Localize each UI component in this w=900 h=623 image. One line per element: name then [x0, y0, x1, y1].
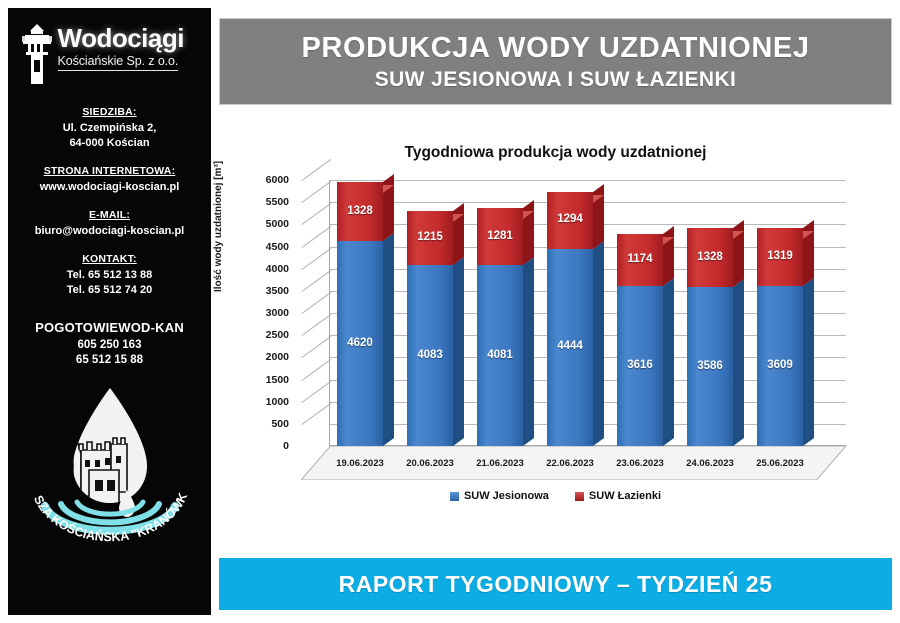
bar-segment-jesionowa[interactable]: 4081 [477, 265, 523, 446]
brand-logo: Wodociągi Kościańskie Sp. z o.o. [12, 22, 208, 86]
info-heading: SIEDZIBA: [63, 106, 157, 118]
bar-column[interactable]: 46201328 [337, 182, 383, 446]
bar-column[interactable]: 36161174 [617, 234, 663, 446]
chart-3d-box: 4620132840831215408112814444129436161174… [301, 180, 846, 480]
chart-legend: SUW Jesionowa SUW Łazienki [219, 490, 892, 502]
info-heading: E-MAIL: [35, 209, 184, 221]
page-subtitle: SUW JESIONOWA I SUW ŁAZIENKI [375, 67, 737, 92]
depth-gridline [301, 226, 331, 248]
emergency-heading: POGOTOWIEWOD-KAN [35, 320, 184, 335]
y-axis-tick-label: 1000 [243, 396, 289, 408]
bar-segment-lazienki[interactable]: 1294 [547, 192, 593, 249]
bar-side-face [453, 203, 464, 265]
info-line: Tel. 65 512 13 88 [67, 268, 152, 283]
brand-name: Wodociągi [58, 24, 208, 52]
footer-banner: RAPORT TYGODNIOWY – TYDZIEŃ 25 [219, 558, 892, 610]
info-group-website: STRONA INTERNETOWA: www.wodociagi-koscia… [40, 165, 180, 195]
bar-segment-jesionowa[interactable]: 3616 [617, 286, 663, 446]
email-link[interactable]: biuro@wodociagi-koscian.pl [35, 224, 184, 239]
header-banner: PRODUKCJA WODY UZDATNIONEJ SUW JESIONOWA… [219, 18, 892, 105]
bar-column[interactable]: 36091319 [757, 228, 803, 446]
depth-gridline [301, 292, 331, 314]
legend-label: SUW Łazienki [589, 490, 661, 502]
bar-value-label: 3616 [617, 359, 663, 371]
y-axis-tick-label: 0 [243, 440, 289, 452]
legend-item-lazienki[interactable]: SUW Łazienki [575, 490, 661, 502]
bar-side-face [663, 278, 674, 446]
bar-value-label: 1328 [337, 205, 383, 217]
depth-gridline [301, 248, 331, 270]
y-axis-tick-label: 4000 [243, 263, 289, 275]
bar-segment-jesionowa[interactable]: 4083 [407, 265, 453, 446]
emergency-line: 65 512 15 88 [35, 353, 184, 368]
bar-segment-lazienki[interactable]: 1281 [477, 208, 523, 265]
info-group-siedziba: SIEDZIBA: Ul. Czempińska 2, 64-000 Kości… [63, 106, 157, 151]
info-heading: STRONA INTERNETOWA: [40, 165, 180, 177]
bar-segment-jesionowa[interactable]: 4444 [547, 249, 593, 446]
info-line: 64-000 Kościan [63, 136, 157, 151]
bar-segment-lazienki[interactable]: 1215 [407, 211, 453, 265]
depth-gridline [301, 159, 331, 181]
bar-value-label: 4444 [547, 340, 593, 352]
bar-column[interactable]: 40811281 [477, 208, 523, 446]
y-axis-tick-label: 5500 [243, 196, 289, 208]
depth-gridline [301, 359, 331, 381]
y-axis-tick-label: 500 [243, 418, 289, 430]
chart-title: Tygodniowa produkcja wody uzdatnionej [219, 144, 892, 162]
chart-plot-area: Ilość wody uzdatnionej [m³] 050010001500… [219, 180, 892, 480]
chart-bars: 4620132840831215408112814444129436161174… [329, 180, 846, 446]
bar-value-label: 1215 [407, 231, 453, 243]
bar-segment-lazienki[interactable]: 1174 [617, 234, 663, 286]
bar-side-face [593, 184, 604, 249]
depth-gridline [301, 336, 331, 358]
info-group-kontakt: KONTAKT: Tel. 65 512 13 88 Tel. 65 512 7… [67, 253, 152, 298]
emergency-line: 605 250 163 [35, 338, 184, 353]
depth-gridline [301, 181, 331, 203]
bar-value-label: 1174 [617, 253, 663, 265]
bar-value-label: 1294 [547, 213, 593, 225]
info-group-email: E-MAIL: biuro@wodociagi-koscian.pl [35, 209, 184, 239]
y-axis-title: Ilość wody uzdatnionej [m³] [213, 161, 224, 292]
y-axis-tick-label: 3500 [243, 285, 289, 297]
bar-side-face [383, 233, 394, 446]
page-title: PRODUKCJA WODY UZDATNIONEJ [301, 32, 809, 65]
y-axis-ticks: 0500100015002000250030003500400045005000… [243, 180, 289, 480]
brand-subtitle: Kościańskie Sp. z o.o. [58, 54, 179, 71]
legend-item-jesionowa[interactable]: SUW Jesionowa [450, 490, 549, 502]
info-line: Ul. Czempińska 2, [63, 121, 157, 136]
x-axis-tick-label: 25.06.2023 [738, 458, 822, 469]
emergency-contact: POGOTOWIEWOD-KAN 605 250 163 65 512 15 8… [35, 320, 184, 368]
report-label: RAPORT TYGODNIOWY – TYDZIEŃ 25 [339, 571, 773, 598]
depth-gridline [301, 203, 331, 225]
depth-gridline [301, 314, 331, 336]
y-axis-tick-label: 2500 [243, 329, 289, 341]
y-axis-tick-label: 5000 [243, 218, 289, 230]
bar-side-face [733, 279, 744, 446]
bar-segment-jesionowa[interactable]: 3609 [757, 286, 803, 446]
depth-gridline [301, 270, 331, 292]
bar-value-label: 3609 [757, 359, 803, 371]
bar-side-face [593, 241, 604, 446]
bar-value-label: 1319 [757, 250, 803, 262]
bar-segment-lazienki[interactable]: 1319 [757, 228, 803, 286]
website-link[interactable]: www.wodociagi-koscian.pl [40, 180, 180, 195]
bar-value-label: 4083 [407, 349, 453, 361]
y-axis-tick-label: 6000 [243, 174, 289, 186]
bar-value-label: 1328 [687, 251, 733, 263]
info-heading: KONTAKT: [67, 253, 152, 265]
y-axis-tick-label: 1500 [243, 374, 289, 386]
bar-value-label: 4081 [477, 349, 523, 361]
y-axis-tick-label: 3000 [243, 307, 289, 319]
bar-value-label: 1281 [477, 230, 523, 242]
bar-side-face [453, 257, 464, 446]
chart-panel: Tygodniowa produkcja wody uzdatnionej Il… [219, 118, 892, 538]
water-drop-castle-logo: NASZA KOŚCIAŃSKA "KRANÓWKA" [15, 378, 205, 553]
depth-gridline [301, 381, 331, 403]
company-sidebar: Wodociągi Kościańskie Sp. z o.o. SIEDZIB… [8, 8, 211, 615]
bar-column[interactable]: 40831215 [407, 211, 453, 446]
bar-value-label: 3586 [687, 360, 733, 372]
info-line: Tel. 65 512 74 20 [67, 283, 152, 298]
bar-column[interactable]: 35861328 [687, 228, 733, 446]
bar-segment-lazienki[interactable]: 1328 [687, 228, 733, 287]
legend-swatch-icon [450, 492, 459, 501]
bar-side-face [523, 257, 534, 446]
water-tower-icon [20, 24, 54, 84]
depth-gridline [301, 403, 331, 425]
bar-segment-jesionowa[interactable]: 4620 [337, 241, 383, 446]
bar-segment-lazienki[interactable]: 1328 [337, 182, 383, 241]
bar-side-face [803, 220, 814, 286]
legend-label: SUW Jesionowa [464, 490, 549, 502]
y-axis-tick-label: 4500 [243, 241, 289, 253]
bar-value-label: 4620 [337, 337, 383, 349]
legend-swatch-icon [575, 492, 584, 501]
y-axis-tick-label: 2000 [243, 351, 289, 363]
bar-side-face [803, 278, 814, 446]
bar-segment-jesionowa[interactable]: 3586 [687, 287, 733, 446]
bar-column[interactable]: 44441294 [547, 192, 593, 446]
x-axis-labels: 19.06.202320.06.202321.06.202322.06.2023… [329, 458, 846, 474]
bar-side-face [663, 226, 674, 286]
